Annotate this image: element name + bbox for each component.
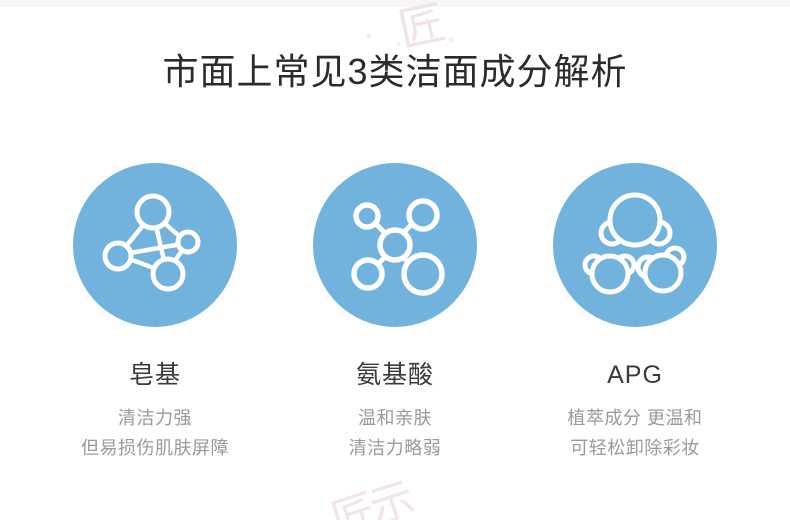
foam-bubbles-icon xyxy=(575,185,695,305)
page-root: 匠 匠示 市面上常见3类洁面成分解析 xyxy=(0,0,790,520)
ingredient-title: APG xyxy=(607,359,663,391)
ingredient-description: 清洁力强 但易损伤肌肤屏障 xyxy=(81,403,229,463)
ingredient-description: 植萃成分 更温和 可轻松卸除彩妆 xyxy=(567,403,702,463)
molecule-star-icon xyxy=(335,185,455,305)
icon-badge-apg xyxy=(553,163,717,327)
ingredient-column-amino-acid: 氨基酸 温和亲肤 清洁力略弱 xyxy=(275,163,515,463)
ingredient-description-line: 植萃成分 更温和 xyxy=(567,403,702,433)
ingredient-columns: 皂基 清洁力强 但易损伤肌肤屏障 xyxy=(0,163,790,463)
watermark-bottom: 匠示 xyxy=(322,463,418,520)
ingredient-title: 氨基酸 xyxy=(356,359,434,391)
ingredient-description-line: 清洁力强 xyxy=(81,403,229,433)
ingredient-column-soap-base: 皂基 清洁力强 但易损伤肌肤屏障 xyxy=(35,163,275,463)
ingredient-description-line: 但易损伤肌肤屏障 xyxy=(81,433,229,463)
icon-badge-soap-base xyxy=(73,163,237,327)
ingredient-description-line: 可轻松卸除彩妆 xyxy=(567,433,702,463)
ingredient-title: 皂基 xyxy=(129,359,181,391)
watermark-top-sparkles xyxy=(355,6,465,50)
page-title: 市面上常见3类洁面成分解析 xyxy=(0,46,790,98)
molecule-network-icon xyxy=(95,185,215,305)
icon-badge-amino-acid xyxy=(313,163,477,327)
ingredient-column-apg: APG 植萃成分 更温和 可轻松卸除彩妆 xyxy=(515,163,755,463)
ingredient-description-line: 温和亲肤 xyxy=(349,403,442,433)
ingredient-description-line: 清洁力略弱 xyxy=(349,433,442,463)
ingredient-description: 温和亲肤 清洁力略弱 xyxy=(349,403,442,463)
